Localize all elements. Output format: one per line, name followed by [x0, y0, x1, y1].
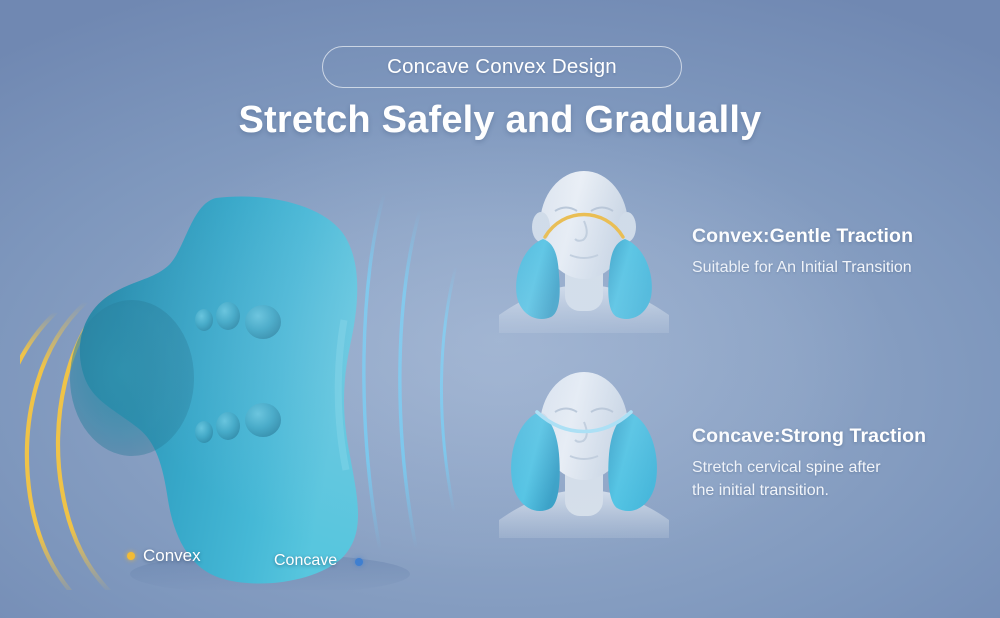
- page-title: Stretch Safely and Gradually: [0, 99, 1000, 142]
- convex-caption-line-1: Suitable for An Initial Transition: [692, 257, 1000, 280]
- concave-caption-line-1: Stretch cervical spine after: [692, 457, 1000, 480]
- convex-mannequin-graphic: [489, 163, 679, 333]
- pillow-lobe-right: [608, 414, 657, 511]
- design-badge-label: Concave Convex Design: [387, 55, 617, 79]
- design-badge: Concave Convex Design: [322, 46, 682, 88]
- concave-mannequin-graphic: [489, 368, 679, 538]
- pillow-lobe-left: [511, 414, 560, 511]
- concave-wave-lines: [364, 194, 456, 550]
- concave-caption-line-2: the initial transition.: [692, 480, 1000, 503]
- pillow-lobe-left: [516, 239, 560, 319]
- convex-figure: [489, 163, 679, 333]
- product-illustration: Convex Concave: [20, 170, 490, 590]
- ear-right: [618, 212, 636, 242]
- concave-label: Concave: [274, 552, 337, 570]
- ear-left: [532, 212, 550, 242]
- concave-figure: [489, 368, 679, 538]
- concave-marker-dot: [355, 558, 363, 566]
- convex-caption: Convex:Gentle Traction Suitable for An I…: [692, 225, 1000, 280]
- product-infographic: Concave Convex Design Stretch Safely and…: [0, 0, 1000, 618]
- pillow-lobe-right: [608, 239, 652, 319]
- convex-label: Convex: [143, 546, 201, 566]
- concave-caption-title: Concave:Strong Traction: [692, 425, 1000, 448]
- convex-caption-body: Suitable for An Initial Transition: [692, 257, 1000, 280]
- convex-marker-dot: [127, 552, 135, 560]
- pillow-convex-bulge: [70, 300, 194, 456]
- convex-caption-title: Convex:Gentle Traction: [692, 225, 1000, 248]
- concave-caption: Concave:Strong Traction Stretch cervical…: [692, 425, 1000, 502]
- concave-caption-body: Stretch cervical spine after the initial…: [692, 457, 1000, 502]
- pillow-graphic: [20, 170, 490, 590]
